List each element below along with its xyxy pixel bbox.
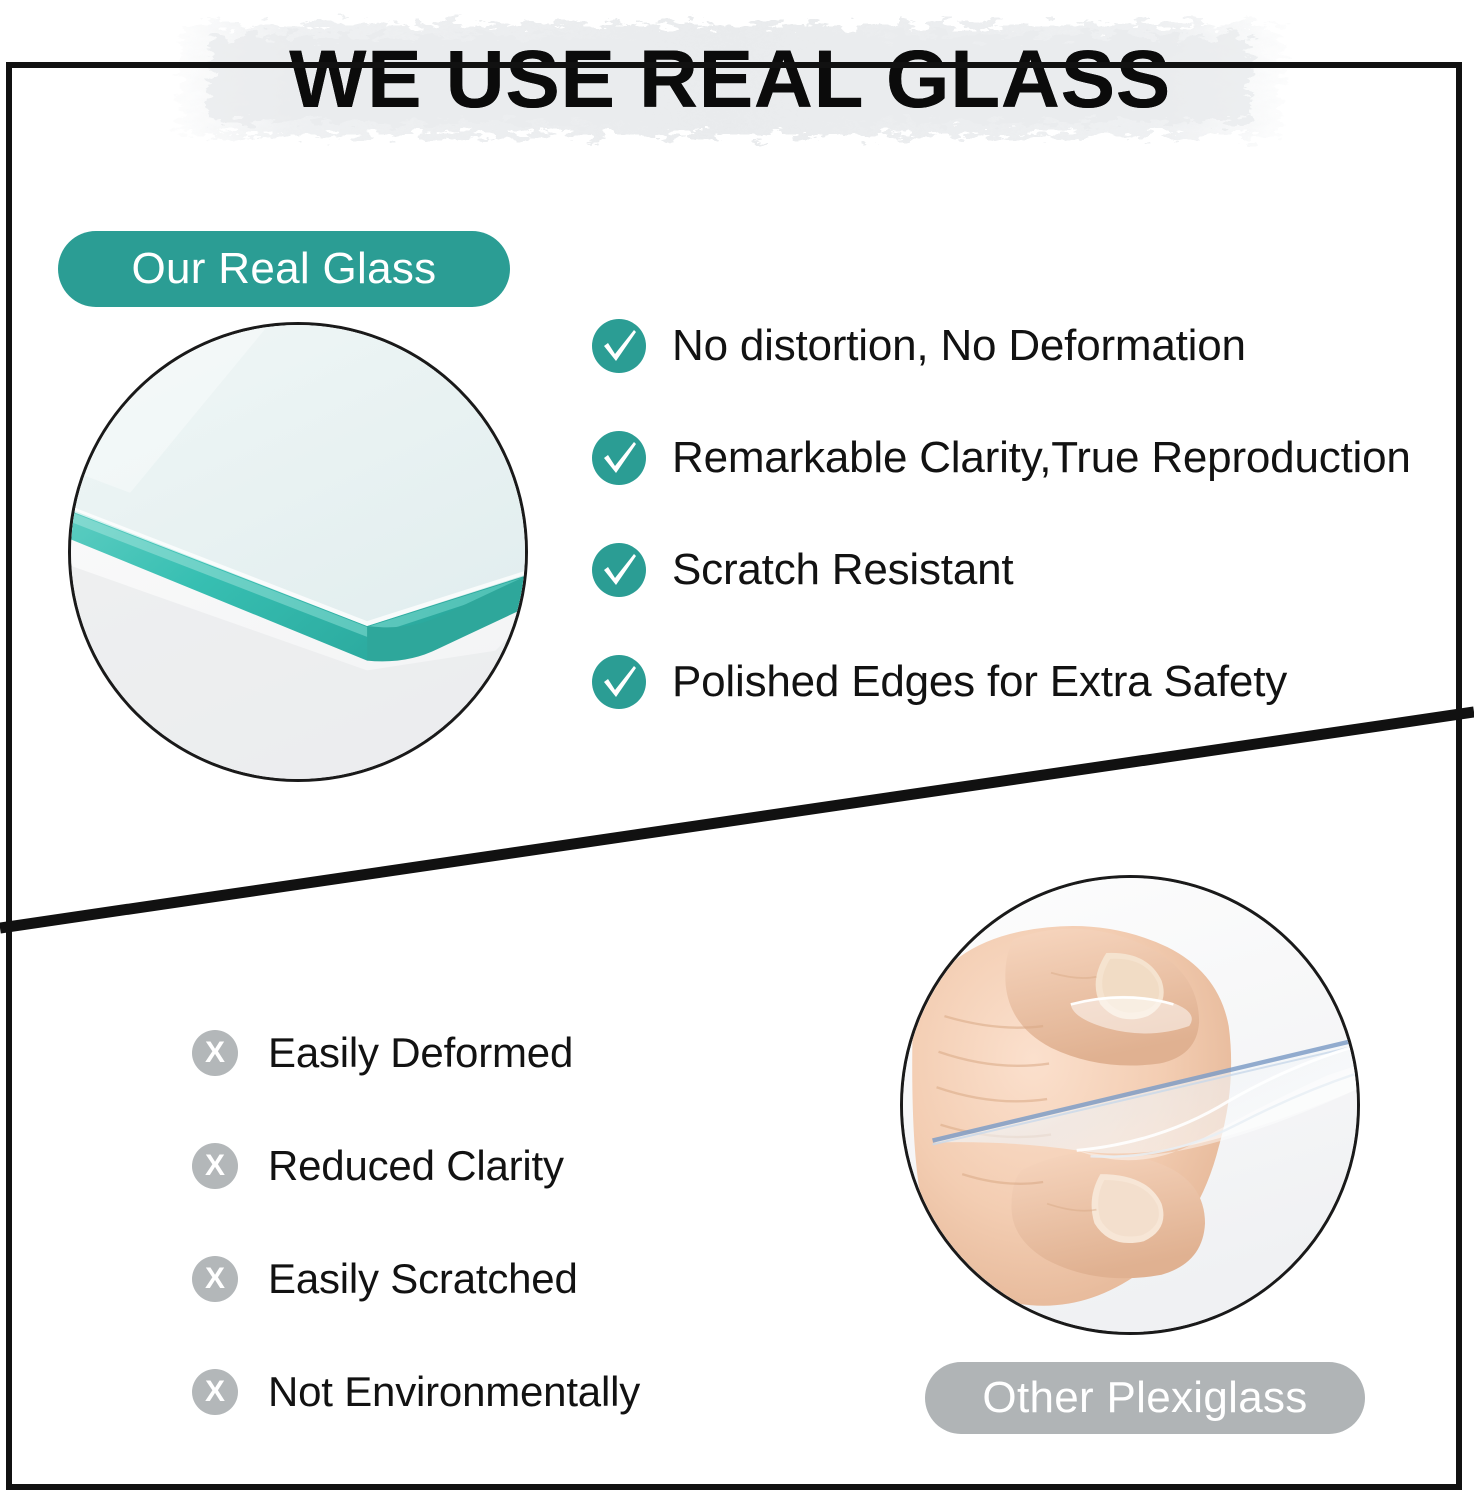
check-icon [592, 543, 646, 597]
check-icon [592, 319, 646, 373]
feature-label: Scratch Resistant [672, 545, 1013, 595]
check-icon [592, 655, 646, 709]
list-item: Remarkable Clarity,True Reproduction [592, 402, 1462, 514]
drawback-label: Reduced Clarity [268, 1142, 564, 1190]
feature-label: Remarkable Clarity,True Reproduction [672, 433, 1411, 483]
list-item: No distortion, No Deformation [592, 290, 1462, 402]
cons-list: X Easily Deformed X Reduced Clarity X Ea… [192, 996, 832, 1448]
list-item: X Reduced Clarity [192, 1109, 832, 1222]
feature-label: Polished Edges for Extra Safety [672, 657, 1287, 707]
check-icon [592, 431, 646, 485]
x-icon: X [192, 1143, 238, 1189]
badge-our-real-glass: Our Real Glass [58, 231, 510, 307]
x-icon: X [192, 1030, 238, 1076]
page-title: WE USE REAL GLASS [150, 6, 1310, 154]
pros-list: No distortion, No Deformation Remarkable… [592, 290, 1462, 738]
drawback-label: Easily Scratched [268, 1255, 578, 1303]
drawback-label: Not Environmentally [268, 1368, 640, 1416]
feature-label: No distortion, No Deformation [672, 321, 1246, 371]
list-item: Polished Edges for Extra Safety [592, 626, 1462, 738]
x-icon: X [192, 1369, 238, 1415]
list-item: X Easily Deformed [192, 996, 832, 1109]
drawback-label: Easily Deformed [268, 1029, 573, 1077]
badge-other-plexiglass: Other Plexiglass [925, 1362, 1365, 1434]
infographic-canvas: WE USE REAL GLASS Our Real Glass [0, 0, 1474, 1500]
headline-banner: WE USE REAL GLASS [150, 6, 1310, 154]
plexiglass-bending-photo [900, 875, 1360, 1335]
list-item: X Easily Scratched [192, 1222, 832, 1335]
x-icon: X [192, 1256, 238, 1302]
list-item: X Not Environmentally [192, 1335, 832, 1448]
real-glass-corner-photo [68, 322, 528, 782]
list-item: Scratch Resistant [592, 514, 1462, 626]
